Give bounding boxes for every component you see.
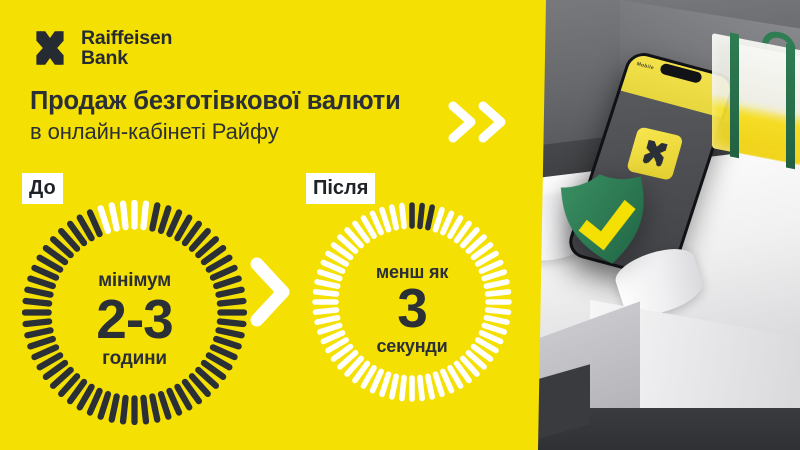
dial-after: менш як 3 секунди: [312, 202, 512, 402]
brand-name: Raiffeisen Bank: [81, 28, 172, 68]
raiffeisen-gable-cross-icon: [30, 28, 70, 68]
promo-banner: Mobile: [0, 0, 800, 450]
brand-name-line1: Raiffeisen: [81, 27, 172, 49]
dial-before-value: 2-3: [22, 288, 247, 350]
dial-before: мінімум 2-3 години: [22, 200, 247, 425]
case-strap: [730, 33, 739, 159]
product-scene: Mobile: [500, 0, 800, 450]
shield-check-icon: [552, 164, 661, 274]
phone-status-label: Mobile: [636, 61, 655, 71]
dial-before-bottom-label: години: [22, 348, 247, 370]
brand-logo: Raiffeisen Bank: [30, 28, 172, 68]
brand-name-line2: Bank: [81, 47, 128, 69]
money-case-icon: [712, 33, 800, 166]
chevron-right-icon: [247, 256, 295, 333]
headline-secondary: в онлайн-кабінеті Райфу: [30, 118, 500, 146]
headline-block: Продаж безготівкової валюти в онлайн-каб…: [30, 87, 500, 146]
double-chevron-right-icon: [445, 98, 517, 151]
dial-after-bottom-label: секунди: [312, 336, 512, 357]
badge-after: Після: [306, 173, 375, 204]
dial-after-value: 3: [312, 278, 512, 338]
headline-primary: Продаж безготівкової валюти: [30, 87, 500, 116]
case-strap: [786, 43, 795, 169]
